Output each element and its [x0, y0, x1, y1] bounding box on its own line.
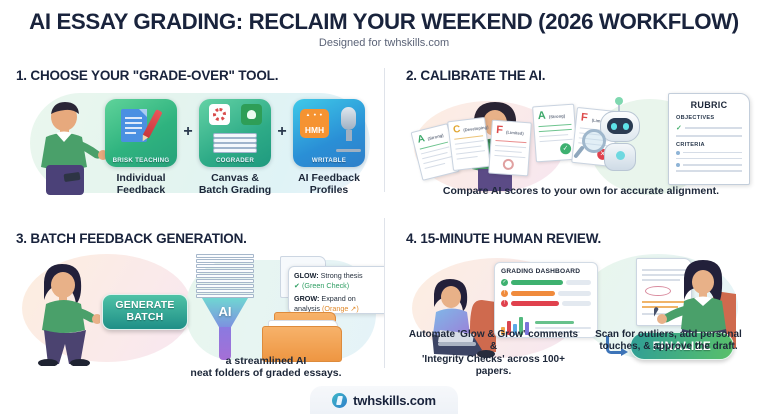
glow-label: GLOW: [294, 271, 319, 280]
grow-text: Expand on [321, 294, 355, 303]
page-title: AI ESSAY GRADING: RECLAIM YOUR WEEKEND (… [14, 10, 755, 34]
tool-caption: Individual Feedback [102, 172, 180, 197]
generate-batch-button[interactable]: GENERATE BATCH [102, 294, 188, 330]
step-3-title: 3. BATCH FEEDBACK GENERATION. [16, 231, 372, 246]
rubric-line [685, 127, 742, 129]
grade-note: (Developing) [463, 125, 489, 133]
dashboard-progress-bar [511, 301, 559, 306]
step-panel-1: 1. CHOOSE YOUR "GRADE-OVER" TOOL. [0, 62, 384, 221]
dashboard-row: ! [501, 300, 591, 307]
tool-badge-label: BRISK TEACHING [105, 157, 177, 164]
rubric-document: RUBRIC OBJECTIVES ✓ CRITERIA [668, 93, 750, 185]
tool-cards-row: BRISK TEACHING Individual Feedback + [102, 99, 368, 197]
step-4-caption-right: Scan for outliers, add personal touches,… [581, 329, 756, 378]
alert-icon: ! [501, 300, 508, 307]
paper-stack-icon [213, 132, 257, 156]
glow-text: Strong thesis [321, 271, 363, 280]
robot-eye-right [623, 123, 629, 130]
grading-dashboard-card[interactable]: GRADING DASHBOARD ✓ ! ! [494, 262, 598, 338]
step-2-caption: Compare AI scores to your own for accura… [406, 185, 756, 197]
microphone-icon [341, 107, 356, 130]
tool-card-writable[interactable]: HMH WRITABLE AI Feedback Profiles [290, 99, 368, 197]
dashboard-title: GRADING DASHBOARD [501, 268, 591, 275]
twhskills-logo-icon [332, 393, 347, 408]
step-3-illustration: GENERATE BATCH AI GLOW: Strong thesis ✔ … [16, 248, 372, 368]
step-2-title: 2. CALIBRATE THE AI. [406, 68, 756, 83]
tool-caption: Canvas & Batch Grading [196, 172, 274, 197]
infographic-footer: twhskills.com [0, 381, 768, 419]
step-1-illustration: BRISK TEACHING Individual Feedback + [16, 85, 372, 203]
dashboard-row: ✓ [501, 279, 591, 286]
rubric-title: RUBRIC [676, 100, 742, 110]
grade-note: (Strong) [549, 113, 566, 119]
steps-grid: 1. CHOOSE YOUR "GRADE-OVER" TOOL. [0, 62, 768, 380]
bullet-icon [676, 151, 680, 155]
grade-note: (Limited) [506, 130, 524, 136]
tool-badge-label: COGRADER [199, 157, 271, 164]
hmh-badge-icon: HMH [300, 109, 329, 138]
step-4-title: 4. 15-MINUTE HUMAN REVIEW. [406, 231, 756, 246]
dashboard-progress-track [566, 280, 591, 285]
tool-card-brisk-teaching[interactable]: BRISK TEACHING Individual Feedback [102, 99, 180, 197]
step-2-illustration: A (Strong) C (Developing) F (Limited) A … [406, 85, 756, 195]
magnifier-icon [582, 129, 606, 153]
essay-stack-icon [196, 254, 254, 300]
grow-label: GROW: [294, 294, 319, 303]
dashboard-progress-track [562, 301, 591, 306]
plus-separator-2: + [275, 123, 289, 141]
microphone-base-icon [336, 149, 361, 152]
grade-letter: C [453, 124, 462, 136]
tool-card-surface: BRISK TEACHING [105, 99, 177, 167]
rubric-section-criteria: CRITERIA [676, 142, 742, 148]
tool-caption: AI Feedback Profiles [290, 172, 368, 197]
canvas-icon [209, 104, 230, 125]
teacher-pushing-button-illustration [30, 260, 100, 366]
step-4-captions: Automate 'Glow & Grow' comments & 'Integ… [406, 329, 756, 378]
google-classroom-icon [241, 104, 262, 125]
canvas-classroom-stack-icon [207, 104, 263, 156]
grade-letter: F [580, 111, 588, 124]
page-subtitle: Designed for twhskills.com [10, 37, 758, 49]
tool-badge-label: WRITABLE [293, 157, 365, 164]
tool-card-cograder[interactable]: COGRADER Canvas & Batch Grading [196, 99, 274, 197]
check-badge-icon: ✓ [560, 143, 572, 155]
rubric-line [683, 152, 742, 154]
grade-letter: F [496, 124, 504, 136]
footer-brand-text: twhskills.com [353, 393, 436, 408]
check-icon: ✓ [501, 279, 508, 286]
footer-brand-pill[interactable]: twhskills.com [310, 386, 458, 414]
step-panel-2: 2. CALIBRATE THE AI. A (Strong) C (Devel… [384, 62, 768, 221]
graded-paper-c: C (Developing) [447, 117, 491, 171]
check-icon: ✔ [294, 281, 300, 290]
grade-letter: A [537, 110, 546, 123]
ai-scored-paper-a: A (Strong) ✓ [532, 104, 578, 163]
plus-separator-1: + [181, 123, 195, 141]
dashboard-progress-track [558, 291, 591, 296]
tool-card-surface: HMH WRITABLE [293, 99, 365, 167]
ai-robot-illustration [592, 103, 648, 177]
glow-grow-feedback-card: GLOW: Strong thesis ✔ (Green Check) GROW… [288, 266, 384, 314]
warning-icon: ! [501, 290, 508, 297]
bullet-icon [676, 163, 680, 167]
tool-card-surface: COGRADER [199, 99, 271, 167]
funnel-label: AI [202, 304, 248, 319]
step-1-title: 1. CHOOSE YOUR "GRADE-OVER" TOOL. [16, 68, 372, 83]
graded-paper-f: F (Limited) [488, 120, 532, 177]
rubric-line [683, 164, 742, 166]
step-panel-4: 4. 15-MINUTE HUMAN REVIEW. GRADING DASHB… [384, 221, 768, 380]
robot-eye-left [611, 123, 617, 130]
rubric-line [676, 170, 742, 172]
dashboard-progress-bar [511, 291, 555, 296]
rubric-line [676, 158, 742, 160]
robot-face [607, 118, 633, 134]
glow-tag: (Green Check) [302, 281, 349, 290]
infographic-header: AI ESSAY GRADING: RECLAIM YOUR WEEKEND (… [0, 0, 768, 53]
dashboard-progress-bar [511, 280, 563, 285]
rubric-line [676, 135, 742, 137]
ai-funnel-icon: AI [202, 298, 248, 360]
teacher-pointing-illustration [34, 101, 108, 197]
step-panel-3: 3. BATCH FEEDBACK GENERATION. GENERATE B… [0, 221, 384, 380]
hmh-microphone-icon: HMH [300, 107, 358, 151]
step-3-caption: a streamlined AI neat folders of graded … [166, 355, 366, 380]
step-4-illustration: GRADING DASHBOARD ✓ ! ! [406, 248, 756, 366]
step-4-caption-left: Automate 'Glow & Grow' comments & 'Integ… [406, 329, 581, 378]
check-icon: ✓ [676, 124, 682, 132]
grade-note: (Strong) [427, 133, 444, 142]
robot-core-icon [616, 151, 625, 160]
dashboard-row: ! [501, 290, 591, 297]
rubric-section-objectives: OBJECTIVES [676, 115, 742, 121]
circle-annotation-icon [502, 159, 514, 171]
grade-letter: A [416, 133, 426, 145]
